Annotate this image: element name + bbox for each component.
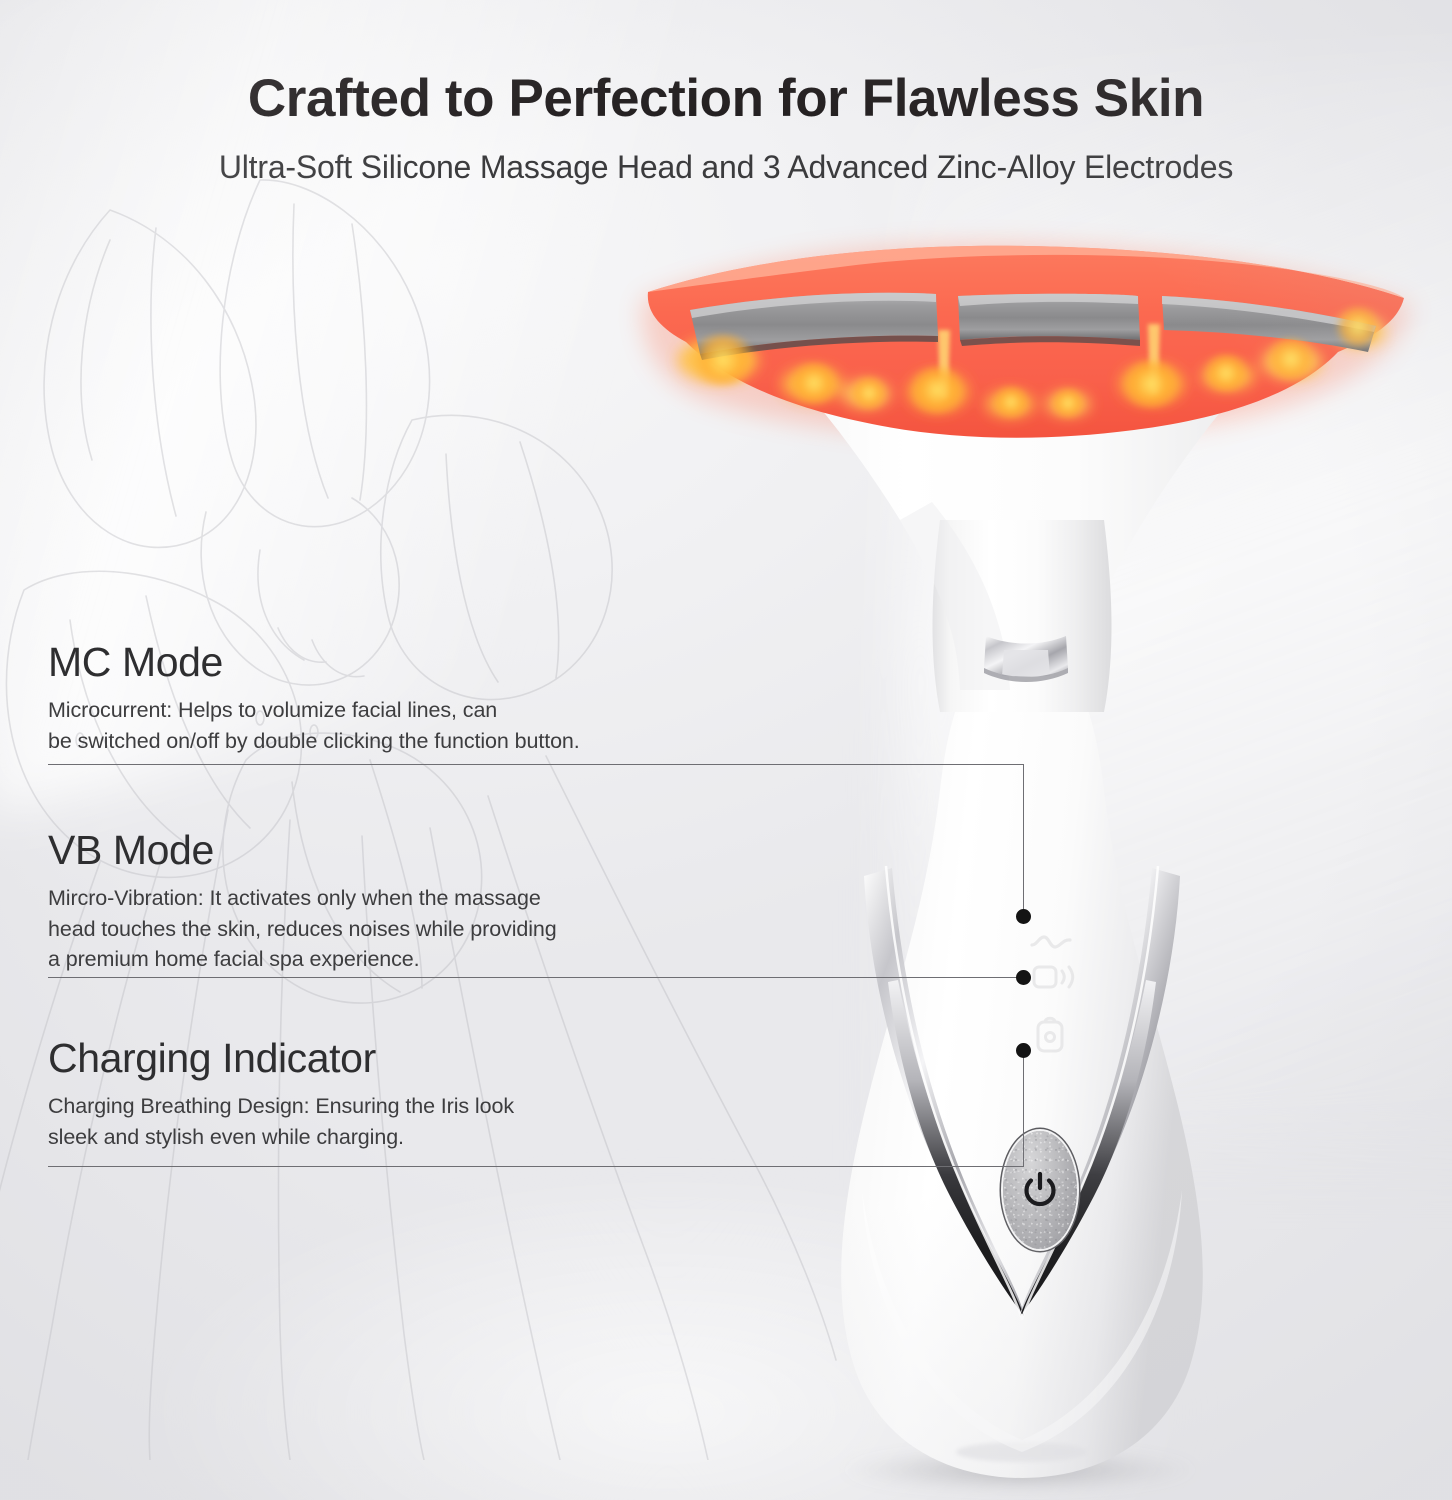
- power-icon: [1020, 1170, 1060, 1210]
- feature-charging-indicator: Charging Indicator Charging Breathing De…: [48, 1036, 688, 1152]
- led-glow-3: [848, 376, 890, 410]
- iris-flower-watermark: [0, 120, 840, 1460]
- heading-block: Crafted to Perfection for Flawless Skin …: [0, 70, 1452, 186]
- led-glow-9: [1262, 338, 1320, 380]
- background-sheen-right: [902, 60, 1452, 1160]
- feature-vb-body-line3: a premium home facial spa experience.: [48, 944, 688, 975]
- feature-charging-title: Charging Indicator: [48, 1036, 688, 1081]
- feature-mc-mode: MC Mode Microcurrent: Helps to volumize …: [48, 640, 688, 756]
- feature-vb-body-line1: Mircro-Vibration: It activates only when…: [48, 883, 688, 914]
- led-glow-4: [906, 366, 968, 414]
- leader-dot-mc: [1016, 909, 1031, 924]
- product-infographic: Crafted to Perfection for Flawless Skin …: [0, 0, 1452, 1500]
- microcurrent-wave-icon: [1030, 931, 1072, 953]
- feature-vb-body: Mircro-Vibration: It activates only when…: [48, 883, 688, 975]
- leader-line-charging-vertical: [1023, 1057, 1024, 1167]
- feature-mc-title: MC Mode: [48, 640, 688, 685]
- page-title: Crafted to Perfection for Flawless Skin: [0, 70, 1452, 127]
- leader-dot-charging: [1016, 1043, 1031, 1058]
- vibration-icon: [1032, 961, 1076, 991]
- led-glow-6: [1048, 388, 1088, 418]
- feature-mc-body-line2: be switched on/off by double clicking th…: [48, 726, 688, 757]
- led-glow-10: [1332, 306, 1384, 348]
- feature-vb-mode: VB Mode Mircro-Vibration: It activates o…: [48, 828, 688, 975]
- leader-line-mc-vertical: [1023, 764, 1024, 916]
- power-button[interactable]: [1003, 1131, 1077, 1249]
- feature-mc-body: Microcurrent: Helps to volumize facial l…: [48, 695, 688, 756]
- led-glow-1: [686, 334, 760, 386]
- feature-vb-title: VB Mode: [48, 828, 688, 873]
- led-glow-7: [1118, 360, 1184, 408]
- led-glow-5: [990, 386, 1032, 418]
- led-glow-8: [1200, 354, 1252, 392]
- leader-line-vb-horizontal: [48, 977, 1023, 978]
- feature-mc-body-line1: Microcurrent: Helps to volumize facial l…: [48, 695, 688, 726]
- feature-vb-body-line2: head touches the skin, reduces noises wh…: [48, 914, 688, 945]
- leader-line-mc-horizontal: [48, 764, 1024, 765]
- led-glow-2: [786, 362, 842, 404]
- leader-dot-vb: [1016, 970, 1031, 985]
- page-subtitle: Ultra-Soft Silicone Massage Head and 3 A…: [0, 149, 1452, 186]
- leader-line-charging-horizontal: [48, 1166, 1024, 1167]
- feature-charging-body-line2: sleek and stylish even while charging.: [48, 1122, 688, 1153]
- feature-charging-body: Charging Breathing Design: Ensuring the …: [48, 1091, 688, 1152]
- battery-charging-icon: [1035, 1015, 1065, 1053]
- feature-charging-body-line1: Charging Breathing Design: Ensuring the …: [48, 1091, 688, 1122]
